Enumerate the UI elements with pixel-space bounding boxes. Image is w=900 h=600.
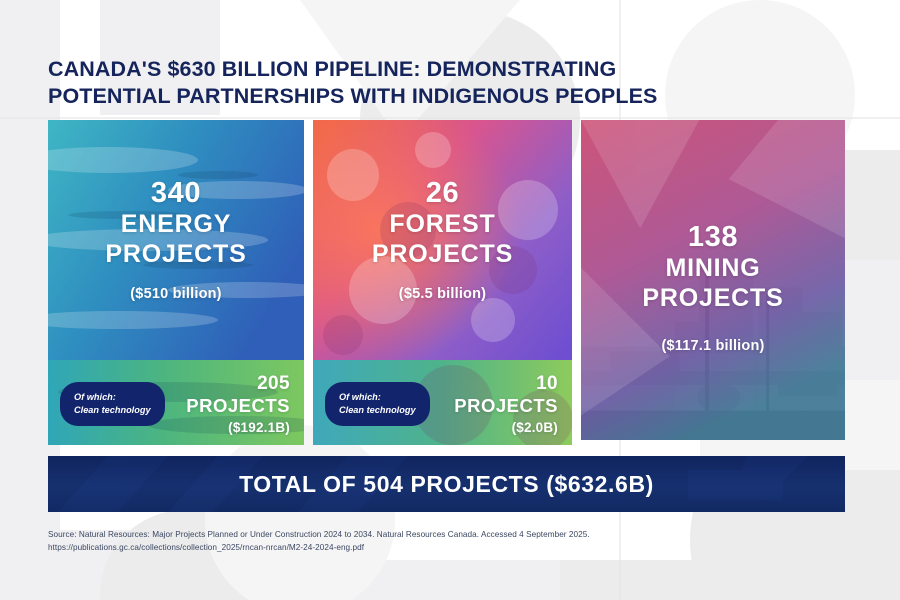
panel-energy-label-1: ENERGY — [121, 210, 231, 240]
panel-forest-cleantech-band: Of which: Clean technology 10 PROJECTS (… — [313, 363, 572, 445]
source-citation: Source: Natural Resources: Major Project… — [48, 528, 808, 555]
panel-energy-cleantech-count: 205 — [186, 373, 290, 395]
source-line-1: Source: Natural Resources: Major Project… — [48, 528, 808, 541]
panel-forest-amount: ($5.5 billion) — [399, 286, 486, 302]
panel-energy-top: 340 ENERGY PROJECTS ($510 billion) — [48, 120, 304, 363]
panel-energy-cleantech-band: Of which: Clean technology 205 PROJECTS … — [48, 363, 304, 445]
panel-forest-cleantech-pill-line-1: Of which: — [339, 391, 416, 404]
panel-row: 340 ENERGY PROJECTS ($510 billion) Of wh… — [48, 120, 845, 445]
panel-energy-label-2: PROJECTS — [105, 240, 246, 270]
panel-forest-count: 26 — [426, 176, 459, 210]
panel-energy-count: 340 — [151, 176, 201, 210]
panel-forest-cleantech-pill: Of which: Clean technology — [325, 382, 430, 426]
panel-energy-amount: ($510 billion) — [130, 286, 221, 302]
panel-mining-label-1: MINING — [665, 254, 760, 284]
title-line-2: POTENTIAL PARTNERSHIPS WITH INDIGENOUS P… — [48, 83, 748, 110]
source-url[interactable]: https://publications.gc.ca/collections/c… — [48, 541, 808, 554]
panel-forest-cleantech-amount: ($2.0B) — [454, 420, 558, 435]
page-title: CANADA'S $630 BILLION PIPELINE: DEMONSTR… — [48, 56, 748, 110]
panel-forest-top: 26 FOREST PROJECTS ($5.5 billion) — [313, 120, 572, 363]
panel-energy-cleantech-pill-line-1: Of which: — [74, 391, 151, 404]
panel-energy-cleantech-figures: 205 PROJECTS ($192.1B) — [186, 373, 290, 435]
infographic-root: CANADA'S $630 BILLION PIPELINE: DEMONSTR… — [0, 0, 900, 600]
panel-mining-count: 138 — [688, 220, 738, 254]
panel-forest: 26 FOREST PROJECTS ($5.5 billion) Of whi… — [313, 120, 572, 445]
total-bar-text: TOTAL OF 504 PROJECTS ($632.6B) — [239, 471, 654, 498]
panel-forest-cleantech-count: 10 — [454, 373, 558, 395]
panel-forest-cleantech-figures: 10 PROJECTS ($2.0B) — [454, 373, 558, 435]
title-line-1: CANADA'S $630 BILLION PIPELINE: DEMONSTR… — [48, 56, 748, 83]
panel-mining-amount: ($117.1 billion) — [661, 338, 764, 354]
panel-forest-cleantech-label: PROJECTS — [454, 395, 558, 416]
panel-forest-label-2: PROJECTS — [372, 240, 513, 270]
panel-energy-cleantech-amount: ($192.1B) — [186, 420, 290, 435]
panel-energy: 340 ENERGY PROJECTS ($510 billion) Of wh… — [48, 120, 304, 445]
panel-forest-label-1: FOREST — [389, 210, 495, 240]
total-bar: TOTAL OF 504 PROJECTS ($632.6B) — [48, 456, 845, 512]
panel-energy-cleantech-label: PROJECTS — [186, 395, 290, 416]
panel-forest-cleantech-pill-line-2: Clean technology — [339, 404, 416, 417]
panel-mining: 138 MINING PROJECTS ($117.1 billion) — [581, 120, 845, 445]
panel-mining-top: 138 MINING PROJECTS ($117.1 billion) — [581, 120, 845, 445]
panel-mining-label-2: PROJECTS — [642, 284, 783, 314]
panel-energy-cleantech-pill: Of which: Clean technology — [60, 382, 165, 426]
panel-energy-cleantech-pill-line-2: Clean technology — [74, 404, 151, 417]
